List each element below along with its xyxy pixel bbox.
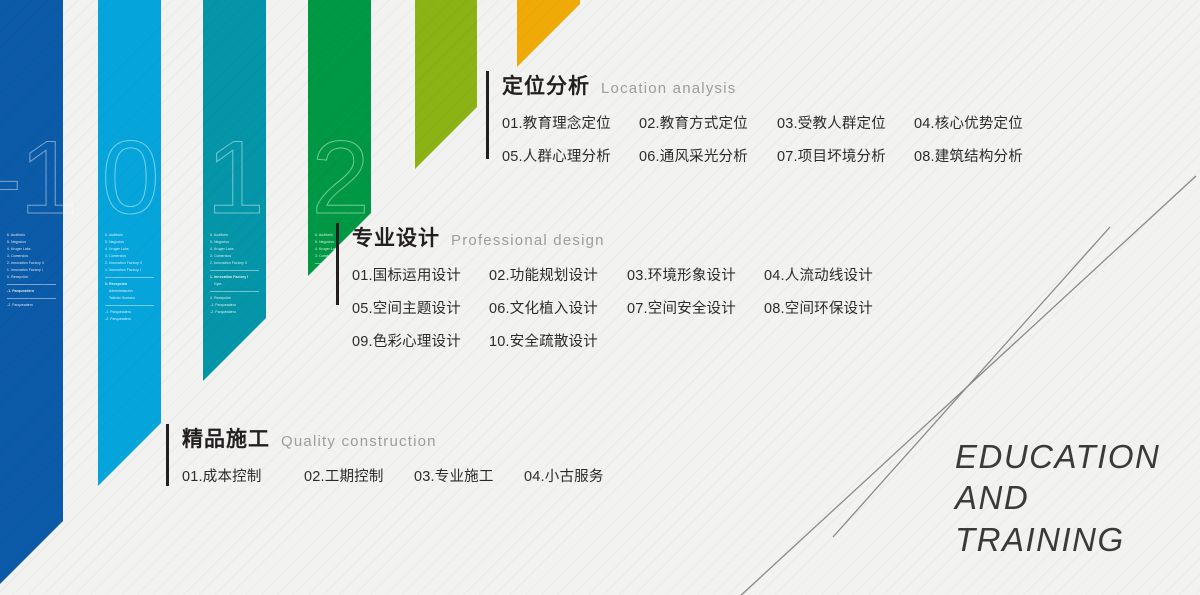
stripe-dark-blue: -16. Auditorio5. Negocios4. Kruger Labs3… xyxy=(0,0,63,595)
legend-row: 3. Comercios xyxy=(210,253,259,260)
section-items-location: 01.教育理念定位 02.教育方式定位 03.受教人群定位 04.核心优势定位 … xyxy=(502,112,1034,166)
list-item[interactable]: 01.教育理念定位 xyxy=(502,112,639,133)
legend-row: 4. Kruger Labs xyxy=(105,246,154,253)
section-heading-location: 定位分析 Location analysis xyxy=(502,70,1034,100)
list-item[interactable]: 04.人流动线设计 xyxy=(764,264,884,285)
legend-row-active: 0. Recepción xyxy=(105,281,154,288)
list-item[interactable]: 02.功能规划设计 xyxy=(489,264,627,285)
stripe-number-outline: 2 xyxy=(312,126,368,230)
legend-row: -2. Parqueadero xyxy=(7,302,56,309)
legend-divider xyxy=(105,305,154,306)
stripe-floor-legend: 6. Auditorio5. Negocios4. Kruger Labs3. … xyxy=(105,232,154,323)
brand-title: EDUCATION AND TRAINING xyxy=(955,436,1200,560)
stripe-number-outline: 0 xyxy=(102,126,158,230)
legend-row: 6. Auditorio xyxy=(210,232,259,239)
legend-row: 3. Comercios xyxy=(105,253,154,260)
list-item[interactable]: 08.建筑结构分析 xyxy=(914,145,1034,166)
legend-divider xyxy=(210,270,259,271)
legend-subrow: Administración xyxy=(105,288,154,295)
section-title-en-location: Location analysis xyxy=(601,80,736,97)
legend-row: 3. Comercios xyxy=(7,253,56,260)
list-item[interactable]: 03.环境形象设计 xyxy=(627,264,764,285)
accent-bar-design xyxy=(336,223,339,305)
legend-divider xyxy=(210,291,259,292)
list-item[interactable]: 03.受教人群定位 xyxy=(777,112,914,133)
section-professional-design: 专业设计 Professional design 01.国标运用设计 02.功能… xyxy=(352,222,884,351)
section-items-design: 01.国标运用设计 02.功能规划设计 03.环境形象设计 04.人流动线设计 … xyxy=(352,264,884,351)
list-item[interactable]: 01.国标运用设计 xyxy=(352,264,489,285)
stripe-number-outline: 1 xyxy=(207,126,263,230)
section-heading-construction: 精品施工 Quality construction xyxy=(182,423,634,453)
legend-row: -1. Parqueadero xyxy=(105,309,154,316)
legend-row: 6. Auditorio xyxy=(105,232,154,239)
list-item[interactable]: 07.项目坏境分析 xyxy=(777,145,914,166)
legend-row: 4. Kruger Labs xyxy=(7,246,56,253)
legend-row: 5. Negocios xyxy=(7,239,56,246)
legend-divider xyxy=(7,298,56,299)
list-item[interactable]: 06.文化植入设计 xyxy=(489,297,627,318)
section-title-cn-construction: 精品施工 xyxy=(182,423,270,453)
legend-row: -2. Parqueadero xyxy=(210,309,259,316)
section-title-en-construction: Quality construction xyxy=(281,433,437,450)
list-item[interactable]: 02.教育方式定位 xyxy=(639,112,777,133)
legend-row: -1. Parqueadero xyxy=(210,302,259,309)
list-item[interactable]: 06.通风采光分析 xyxy=(639,145,777,166)
legend-row: 2. Innovation Factory II xyxy=(210,260,259,267)
legend-row: 4. Kruger Labs xyxy=(210,246,259,253)
section-items-construction: 01.成本控制 02.工期控制 03.专业施工 04.小古服务 xyxy=(182,465,634,486)
legend-row: 6. Auditorio xyxy=(7,232,56,239)
list-item[interactable]: 05.人群心理分析 xyxy=(502,145,639,166)
list-item[interactable]: 03.专业施工 xyxy=(414,465,524,486)
list-item[interactable]: 09.色彩心理设计 xyxy=(352,330,489,351)
legend-row: 0. Recepción xyxy=(210,295,259,302)
stripe-floor-legend: 6. Auditorio5. Negocios4. Kruger Labs3. … xyxy=(210,232,259,316)
list-item[interactable]: 02.工期控制 xyxy=(304,465,414,486)
list-item[interactable]: 10.安全疏散设计 xyxy=(489,330,627,351)
legend-subrow: Gym xyxy=(210,281,259,288)
legend-row: 5. Negocios xyxy=(210,239,259,246)
slide-canvas: -16. Auditorio5. Negocios4. Kruger Labs3… xyxy=(0,0,1200,595)
legend-row: 1. Innovation Factory I xyxy=(7,267,56,274)
list-item[interactable]: 01.成本控制 xyxy=(182,465,304,486)
list-item[interactable]: 04.核心优势定位 xyxy=(914,112,1034,133)
legend-row: 5. Negocios xyxy=(105,239,154,246)
stripe-number-outline: -1 xyxy=(0,126,76,230)
list-item[interactable]: 04.小古服务 xyxy=(524,465,634,486)
list-item[interactable]: 05.空间主题设计 xyxy=(352,297,489,318)
legend-divider xyxy=(105,277,154,278)
legend-row: 1. Innovation Factory I xyxy=(105,267,154,274)
section-title-en-design: Professional design xyxy=(451,232,605,249)
accent-bar-construction xyxy=(166,424,169,486)
legend-row: 0. Recepción xyxy=(7,274,56,281)
accent-bar-location xyxy=(486,71,489,159)
section-title-cn-design: 专业设计 xyxy=(352,222,440,252)
section-heading-design: 专业设计 Professional design xyxy=(352,222,884,252)
section-location-analysis: 定位分析 Location analysis 01.教育理念定位 02.教育方式… xyxy=(502,70,1034,166)
legend-row-active: -1. Parqueadero xyxy=(7,288,56,295)
legend-subrow: Talento Humano xyxy=(105,295,154,302)
legend-row: 2. Innovation Factory II xyxy=(105,260,154,267)
list-item[interactable]: 07.空间安全设计 xyxy=(627,297,764,318)
list-item[interactable]: 08.空间环保设计 xyxy=(764,297,884,318)
legend-row: -2. Parqueadero xyxy=(105,316,154,323)
legend-divider xyxy=(7,284,56,285)
stripe-floor-legend: 6. Auditorio5. Negocios4. Kruger Labs3. … xyxy=(7,232,56,309)
section-title-cn-location: 定位分析 xyxy=(502,70,590,100)
legend-row-active: 1. Innovation Factory I xyxy=(210,274,259,281)
legend-row: 2. Innovation Factory II xyxy=(7,260,56,267)
section-quality-construction: 精品施工 Quality construction 01.成本控制 02.工期控… xyxy=(182,423,634,486)
